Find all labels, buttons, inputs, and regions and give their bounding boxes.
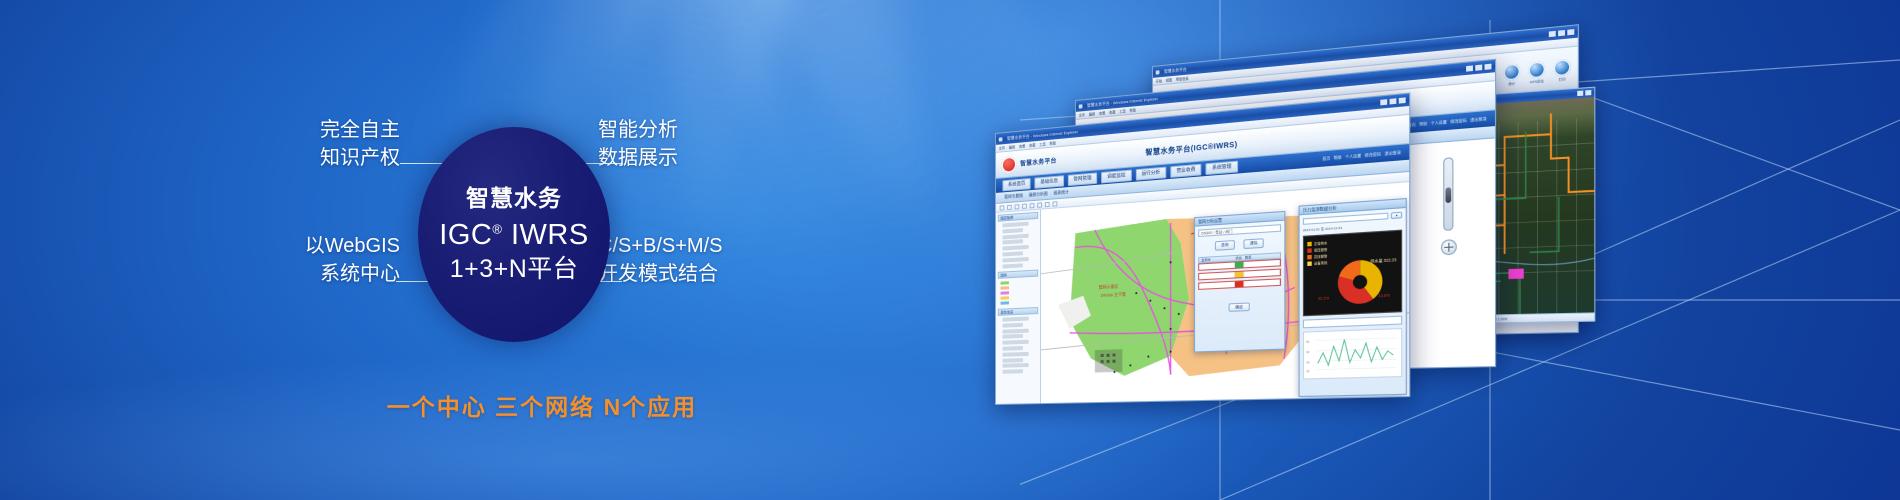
- svg-text:80: 80: [1306, 341, 1310, 345]
- front-status-3: 100%: [1395, 399, 1404, 404]
- f-minimize-icon: [1380, 99, 1387, 105]
- f-maximize-icon: [1390, 98, 1397, 104]
- m-maximize-icon: [1475, 65, 1482, 71]
- badge-platform: 1+3+N平台: [450, 255, 579, 285]
- svg-text:13.6%: 13.6%: [1378, 293, 1390, 298]
- m-menu-4[interactable]: 工具: [1119, 108, 1125, 114]
- feature-bottom-left-line1: 以WebGIS: [305, 235, 400, 257]
- tagline: 一个中心 三个网络 N个应用: [332, 388, 752, 422]
- m-navr-1[interactable]: 帮助: [1419, 121, 1427, 127]
- nav-tab-pipeline[interactable]: 管网管理: [1068, 172, 1098, 186]
- front-window-controls[interactable]: [1380, 97, 1405, 105]
- tool-zoom-out-icon[interactable]: [1015, 204, 1020, 209]
- pipe-analysis-dialog[interactable]: 管网分析设置 DN300 / 泵站 / 阀门 查询 清除 监测点 状态 数值: [1194, 211, 1285, 353]
- dialog-confirm-button[interactable]: 确定: [1229, 302, 1249, 311]
- f-close-icon: [1399, 97, 1406, 103]
- pie-legend: 正常供水 低压报警 高压报警 设备离线: [1307, 241, 1327, 268]
- tool-print-icon[interactable]: [1045, 201, 1050, 206]
- menu-view[interactable]: 查看: [1019, 143, 1025, 149]
- menu-help[interactable]: 帮助: [1050, 140, 1056, 146]
- tool-measure-icon[interactable]: [1030, 202, 1035, 207]
- front-app-icon: [999, 137, 1003, 141]
- menu-favorites[interactable]: 收藏: [1029, 142, 1035, 148]
- nav-tab-analysis[interactable]: 运行分析: [1135, 166, 1166, 180]
- maximize-icon: [1558, 30, 1565, 36]
- close-icon: [1567, 29, 1574, 35]
- tool-pan-icon[interactable]: [1000, 205, 1005, 210]
- grid-col-1: 状态: [1235, 255, 1245, 260]
- nav-tab-dispatch[interactable]: 调度监控: [1101, 169, 1131, 183]
- menu-item-help[interactable]: 帮助信息: [1176, 76, 1189, 82]
- layer-panel[interactable]: 图层管理 图例 属性信息: [996, 210, 1041, 404]
- pie-legend-0: 正常供水: [1307, 241, 1327, 247]
- m-navr-3[interactable]: 修改密码: [1450, 118, 1466, 125]
- menu-edit[interactable]: 编辑: [1009, 144, 1015, 150]
- middle-app-icon: [1079, 104, 1083, 108]
- menu-file[interactable]: 文件: [999, 145, 1005, 151]
- tool-select-icon[interactable]: [1022, 203, 1027, 208]
- feature-top-right-line1: 智能分析: [598, 119, 678, 141]
- sat-close-icon: [1585, 90, 1591, 96]
- center-badge: 智慧水务 IGC® IWRS 1+3+N平台: [418, 127, 610, 342]
- table-row[interactable]: [1198, 278, 1281, 290]
- banner-stage: 完全自主 知识产权 智能分析 数据展示 以WebGIS 系统中心 C/S+B/S…: [0, 0, 1900, 500]
- badge-product: IGC: [439, 219, 492, 251]
- back-title-text: 智慧水务平台: [1164, 66, 1187, 74]
- ribbon-big-4-label: 统计: [1508, 81, 1515, 86]
- dialog-clear-button[interactable]: 清除: [1243, 238, 1264, 249]
- gis-map[interactable]: 管网示意区 DN300 主干管 管网分析设置 DN300 / 泵站 / 阀门 查…: [1041, 182, 1409, 403]
- feature-bottom-left: 以WebGIS 系统中心: [240, 233, 400, 288]
- feature-top-right: 智能分析 数据展示: [598, 117, 788, 172]
- satellite-window-controls[interactable]: [1577, 90, 1591, 96]
- badge-product-name: IGC® IWRS: [439, 218, 588, 252]
- middle-nav-right[interactable]: 首页 帮助 个人设置 修改密码 退出登录: [1408, 116, 1487, 128]
- m-navr-4[interactable]: 退出登录: [1470, 116, 1487, 123]
- badge-cn-title: 智慧水务: [466, 185, 562, 212]
- minimize-icon: [1549, 31, 1556, 37]
- svg-text:60: 60: [1306, 351, 1310, 355]
- subtab-pipemap[interactable]: 管网专题图: [1004, 193, 1023, 201]
- m-menu-5[interactable]: 帮助: [1130, 107, 1136, 113]
- dialog-query-button[interactable]: 查询: [1215, 240, 1235, 251]
- pie-legend-3: 设备离线: [1307, 261, 1327, 266]
- svg-text:40: 40: [1306, 361, 1310, 364]
- layer-tree[interactable]: [998, 221, 1038, 268]
- ribbon-big-5[interactable]: GPS定位: [1528, 60, 1545, 84]
- m-menu-3[interactable]: 收藏: [1109, 109, 1115, 115]
- window-controls[interactable]: [1549, 29, 1575, 37]
- ribbon-big-6[interactable]: 打印: [1553, 58, 1570, 82]
- menu-item-view[interactable]: 视图: [1166, 77, 1172, 83]
- feature-top-left-line1: 完全自主: [320, 119, 400, 141]
- svg-text:20: 20: [1306, 370, 1310, 373]
- nav-tab-system[interactable]: 系统管理: [1206, 160, 1238, 174]
- attribute-list: [998, 316, 1038, 374]
- nav-tab-home[interactable]: 系统首页: [1002, 177, 1031, 190]
- app-icon: [1156, 70, 1160, 74]
- navr-settings[interactable]: 个人设置: [1345, 153, 1361, 160]
- pressure-trend-chart: 80604020: [1303, 328, 1402, 380]
- navr-help[interactable]: 帮助: [1334, 155, 1342, 161]
- map-legend: [1001, 279, 1039, 305]
- pie-legend-1: 低压报警: [1307, 247, 1327, 253]
- ribbon-big-5-label: GPS定位: [1530, 78, 1544, 84]
- registered-mark-icon: ®: [492, 221, 502, 236]
- m-close-icon: [1485, 64, 1492, 70]
- menu-tools[interactable]: 工具: [1039, 141, 1045, 147]
- chart-filter-button[interactable]: ▾: [1391, 212, 1402, 219]
- front-brand-title: 智慧水务平台(IGC®IWRS): [1145, 139, 1237, 158]
- gps-icon: [1528, 60, 1545, 78]
- tool-identify-icon[interactable]: [1037, 202, 1042, 207]
- monitor-chart-panel[interactable]: 压力监测数据分析 ▾ 2014-01-01 至 2014-12-31 正常供水 …: [1299, 198, 1407, 397]
- feature-top-right-line2: 数据展示: [598, 145, 788, 173]
- tool-layers-icon[interactable]: [1052, 201, 1057, 206]
- tool-zoom-in-icon[interactable]: [1007, 204, 1012, 209]
- statistics-icon: [1503, 63, 1520, 81]
- navr-home[interactable]: 首页: [1322, 156, 1330, 162]
- feature-bottom-left-line2: 系统中心: [240, 261, 400, 289]
- chart-secondary-input[interactable]: [1303, 316, 1402, 329]
- ribbon-big-6-label: 打印: [1559, 76, 1566, 81]
- pie-chart-panel: 正常供水 低压报警 高压报警 设备离线 供水量 522.23: [1303, 230, 1402, 317]
- company-logo-icon: [1002, 156, 1017, 173]
- svg-text:管网示意区: 管网示意区: [1099, 284, 1119, 290]
- feature-bottom-right-line1: C/S+B/S+M/S: [598, 235, 723, 257]
- middle-zoom-slider[interactable]: [1443, 157, 1453, 231]
- navr-logout[interactable]: 退出登录: [1384, 150, 1401, 157]
- sat-minimize-icon: [1577, 91, 1583, 97]
- pie-legend-2: 高压报警: [1307, 254, 1327, 260]
- feature-top-left-line2: 知识产权: [250, 145, 400, 173]
- subtab-reports[interactable]: 报表统计: [1053, 189, 1068, 196]
- badge-product-suffix: IWRS: [511, 219, 589, 251]
- feature-top-left: 完全自主 知识产权: [250, 117, 400, 172]
- ribbon-big-4[interactable]: 统计: [1503, 63, 1520, 87]
- window-front[interactable]: 智慧水务平台 - Windows Internet Explorer 文件 编辑…: [995, 92, 1410, 405]
- print-icon: [1553, 58, 1570, 76]
- feature-bottom-right: C/S+B/S+M/S 开发模式结合: [598, 233, 798, 288]
- navr-password[interactable]: 修改密码: [1365, 151, 1381, 158]
- nav-tab-basicinfo[interactable]: 基础信息: [1035, 175, 1064, 189]
- menu-item-start[interactable]: 开始: [1156, 78, 1162, 84]
- dialog-search-input[interactable]: DN300 / 泵站 / 阀门: [1198, 224, 1281, 237]
- m-menu-2[interactable]: 查看: [1099, 110, 1105, 116]
- m-menu-1[interactable]: 编辑: [1089, 111, 1095, 117]
- nav-tab-billing[interactable]: 营业收费: [1170, 163, 1201, 177]
- front-brand-cn: 智慧水务平台: [1020, 155, 1057, 167]
- info-panel-title: 属性信息: [998, 307, 1038, 316]
- m-menu-0[interactable]: 文件: [1079, 112, 1085, 118]
- front-nav-right[interactable]: 首页 帮助 个人设置 修改密码 退出登录: [1322, 150, 1401, 162]
- feature-bottom-right-line2: 开发模式结合: [598, 261, 798, 289]
- m-navr-2[interactable]: 个人设置: [1431, 119, 1447, 126]
- infographic: 完全自主 知识产权 智能分析 数据展示 以WebGIS 系统中心 C/S+B/S…: [250, 105, 810, 405]
- middle-window-controls[interactable]: [1466, 64, 1491, 72]
- front-body: 图层管理 图例 属性信息: [996, 182, 1409, 404]
- m-minimize-icon: [1466, 65, 1473, 71]
- subtab-leakage[interactable]: 漏损分析图: [1029, 191, 1048, 199]
- svg-text:32.1%: 32.1%: [1318, 296, 1329, 301]
- legend-title: 图例: [998, 269, 1038, 278]
